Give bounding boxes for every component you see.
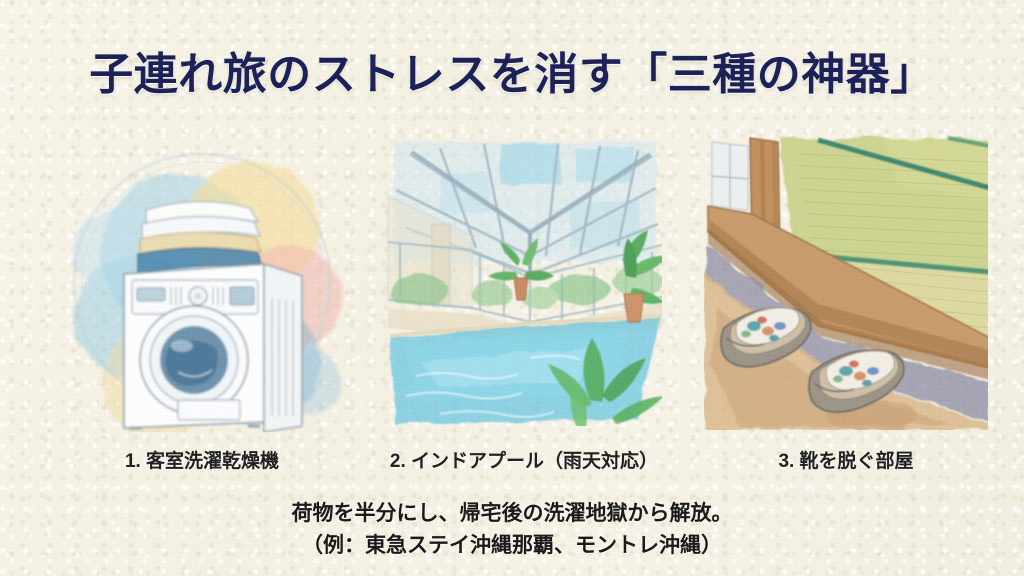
indoor-pool-illustration (380, 132, 668, 432)
panel-indoor-pool (380, 132, 668, 432)
slide-background: 子連れ旅のストレスを消す「三種の神器」 (0, 0, 1024, 576)
caption-washing-machine: 1. 客室洗濯乾燥機 (58, 446, 346, 473)
caption-shoes-off-room: 3. 靴を脱ぐ部屋 (702, 446, 990, 473)
tatami-slippers-illustration (702, 132, 990, 432)
footer-line-1: 荷物を半分にし、帰宅後の洗濯地獄から解放。 (0, 498, 1024, 530)
illustration-row (58, 132, 990, 432)
caption-indoor-pool: 2. インドアプール（雨天対応） (380, 446, 668, 473)
panel-shoes-off-room (702, 132, 990, 432)
page-title: 子連れ旅のストレスを消す「三種の神器」 (0, 38, 1024, 102)
footer-line-2: （例：東急ステイ沖縄那覇、モントレ沖縄） (0, 530, 1024, 562)
footer-note: 荷物を半分にし、帰宅後の洗濯地獄から解放。 （例：東急ステイ沖縄那覇、モントレ沖… (0, 498, 1024, 562)
caption-row: 1. 客室洗濯乾燥機 2. インドアプール（雨天対応） 3. 靴を脱ぐ部屋 (58, 444, 990, 474)
panel-washing-machine (58, 132, 346, 432)
washing-machine-illustration (58, 132, 346, 432)
